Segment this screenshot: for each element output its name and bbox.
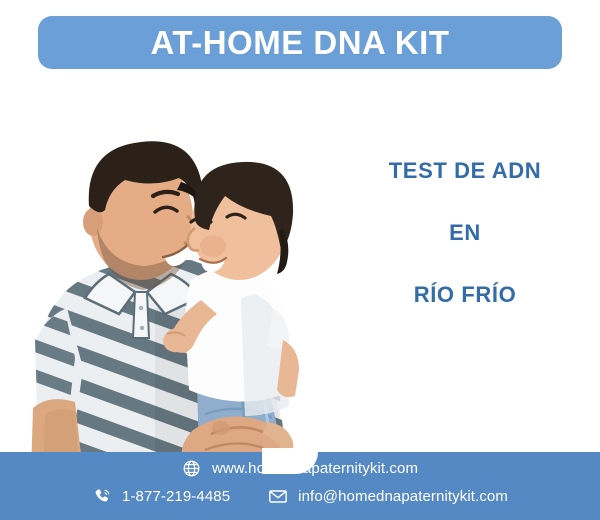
phone-label: 1-877-219-4485: [122, 489, 230, 504]
page-title: AT-HOME DNA KIT: [151, 26, 450, 59]
footer-row-phone-email: 1-877-219-4485 info@homednapaternitykit.…: [0, 486, 600, 506]
footer-row-website: www.homednapaternitykit.com: [0, 458, 600, 478]
website-contact-item[interactable]: www.homednapaternitykit.com: [182, 458, 418, 478]
website-label: www.homednapaternitykit.com: [212, 461, 418, 476]
globe-icon: [182, 458, 202, 478]
poster-canvas: AT-HOME DNA KIT: [0, 0, 600, 520]
phone-icon: [92, 486, 112, 506]
headline-line-connector: en: [336, 222, 594, 244]
envelope-icon: [268, 486, 288, 506]
phone-contact-item[interactable]: 1-877-219-4485: [92, 486, 230, 506]
father-and-child-photo: [5, 78, 335, 468]
headline-block: Test de ADN en Río Frío: [336, 160, 594, 306]
header-banner: AT-HOME DNA KIT: [38, 16, 562, 69]
headline-line-primary: Test de ADN: [336, 160, 594, 182]
email-contact-item[interactable]: info@homednapaternitykit.com: [268, 486, 508, 506]
headline-line-location: Río Frío: [336, 284, 594, 306]
email-label: info@homednapaternitykit.com: [298, 489, 508, 504]
